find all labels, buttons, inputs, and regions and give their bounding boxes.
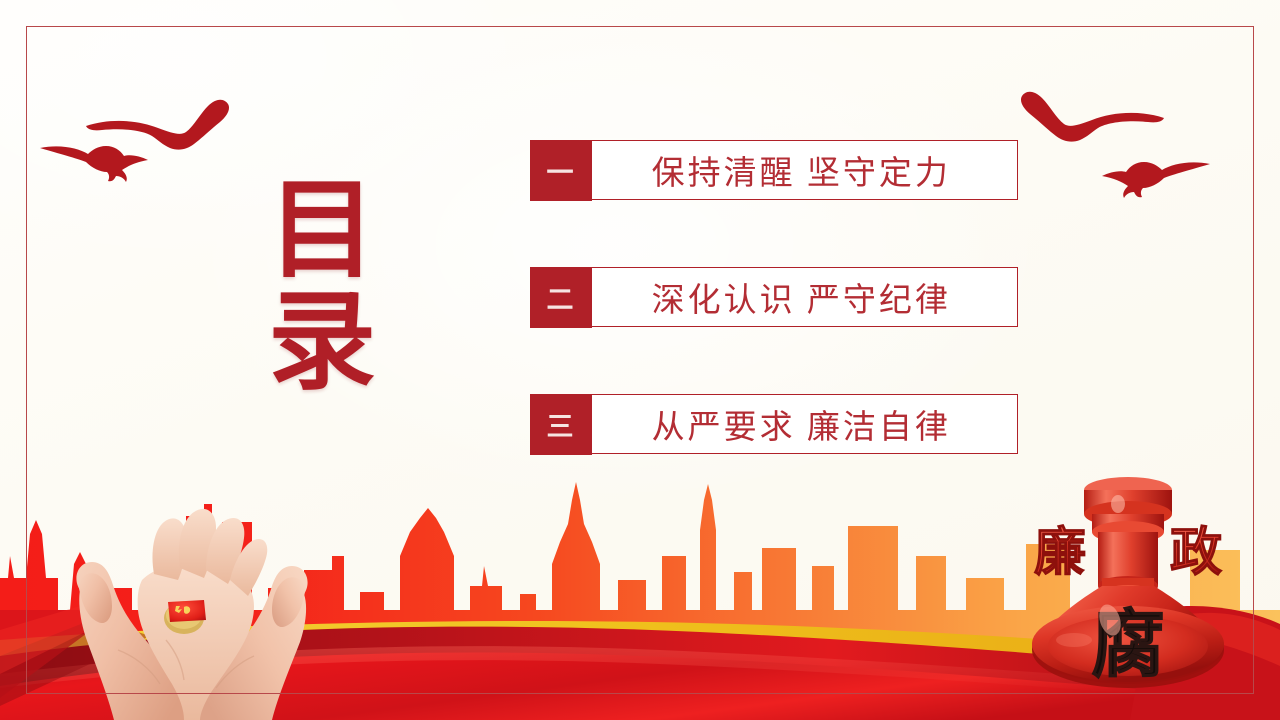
page-title-char-1: 目 [238, 176, 408, 288]
agenda-item-1[interactable]: 一 保持清醒 坚守定力 [530, 140, 1018, 200]
agenda-item-3-label: 从严要求 廉洁自律 [592, 395, 1018, 453]
agenda-item-2-label: 深化认识 严守纪律 [592, 268, 1018, 326]
agenda-item-2[interactable]: 二 深化认识 严守纪律 [530, 267, 1018, 327]
agenda-list: 一 保持清醒 坚守定力 二 深化认识 严守纪律 三 从严要求 廉洁自律 [530, 140, 1018, 454]
bird-dove-icon [40, 146, 148, 182]
page-title: 目 录 [238, 176, 408, 401]
flying-birds-right [1000, 78, 1220, 208]
bird-gull-icon [1021, 92, 1164, 142]
agenda-item-3-number: 三 [530, 394, 592, 455]
agenda-item-3[interactable]: 三 从严要求 廉洁自律 [530, 394, 1018, 454]
agenda-item-1-label: 保持清醒 坚守定力 [592, 141, 1018, 199]
hands-holding-party-badge [58, 470, 328, 720]
bird-gull-icon [86, 100, 229, 150]
bird-dove-icon [1102, 162, 1210, 198]
seal-char-lian: 廉 [1034, 524, 1086, 582]
anti-corruption-seal: 廉 政 腐 [1014, 474, 1242, 706]
flying-birds-left [30, 78, 250, 208]
seal-char-zheng: 政 [1170, 524, 1222, 582]
agenda-item-2-number: 二 [530, 267, 592, 328]
agenda-item-1-number: 一 [530, 140, 592, 201]
page-title-char-2: 录 [238, 288, 408, 400]
slide-canvas: 廉 政 腐 目 录 一 保持清醒 坚守定力 二 [0, 0, 1280, 720]
seal-handle [1084, 477, 1172, 603]
